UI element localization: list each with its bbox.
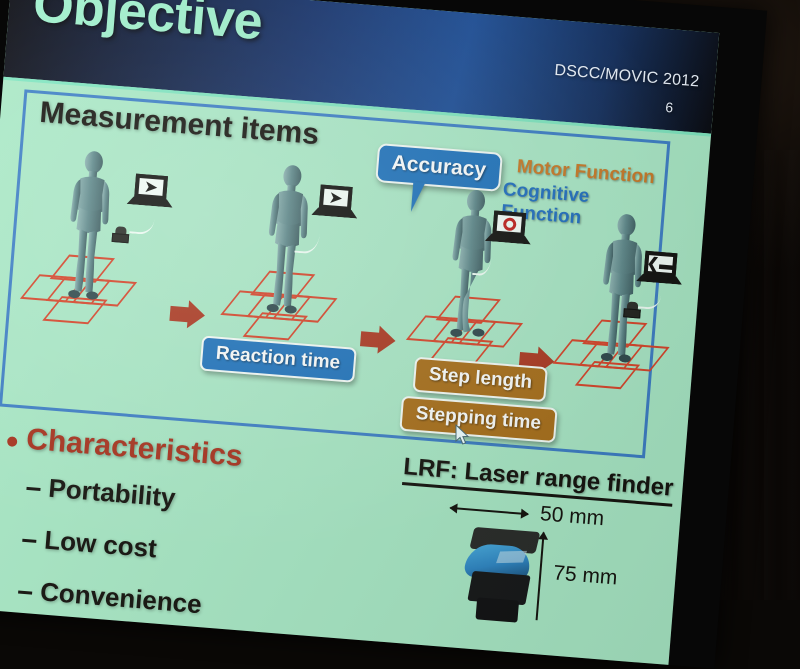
cable-1 bbox=[129, 207, 155, 235]
conference-label: DSCC/MOVIC 2012 bbox=[554, 62, 700, 92]
badge-stepping-time: Stepping time bbox=[399, 396, 557, 443]
laptop-stop-circle-icon-3 bbox=[485, 210, 534, 248]
laptop-arrow-right-icon-2: ➤ bbox=[311, 184, 360, 222]
cable-4 bbox=[638, 284, 662, 310]
lrf-height-label: 75 mm bbox=[552, 561, 618, 590]
slide-page-number: 6 bbox=[665, 99, 674, 116]
page-title: Objective bbox=[31, 0, 265, 52]
characteristic-portability: Portability bbox=[47, 473, 176, 514]
stop-circle-icon bbox=[502, 217, 516, 231]
badge-reaction-time: Reaction time bbox=[200, 335, 357, 382]
scene-1: ➤ bbox=[13, 127, 198, 330]
characteristics-heading: Characteristics bbox=[25, 423, 244, 474]
characteristics-bullet-icon bbox=[7, 436, 18, 447]
projection-screen: Objective DSCC/MOVIC 2012 6 Measurement … bbox=[0, 0, 767, 669]
laptop-arrow-left-icon-4: ❮▬ bbox=[636, 250, 685, 288]
scene-2: ➤ bbox=[214, 143, 399, 346]
measurement-items-box: Measurement items Accuracy Motor Functio… bbox=[0, 89, 670, 458]
dash-icon-convenience bbox=[18, 591, 32, 595]
lrf-device-icon-1 bbox=[112, 224, 130, 243]
characteristic-convenience: Convenience bbox=[39, 576, 203, 620]
presentation-slide: Objective DSCC/MOVIC 2012 6 Measurement … bbox=[0, 0, 719, 665]
laptop-arrow-right-icon-1: ➤ bbox=[126, 173, 175, 211]
dash-icon-portability bbox=[26, 487, 40, 491]
characteristic-low-cost: Low cost bbox=[43, 525, 158, 565]
cable-2 bbox=[294, 219, 321, 255]
lrf-width-label: 50 mm bbox=[539, 502, 605, 531]
lrf-device-photo bbox=[459, 526, 546, 624]
lrf-section-title: LRF: Laser range finder bbox=[402, 453, 674, 507]
width-dimension-arrow-icon bbox=[450, 507, 528, 515]
dash-icon-low-cost bbox=[22, 539, 36, 543]
